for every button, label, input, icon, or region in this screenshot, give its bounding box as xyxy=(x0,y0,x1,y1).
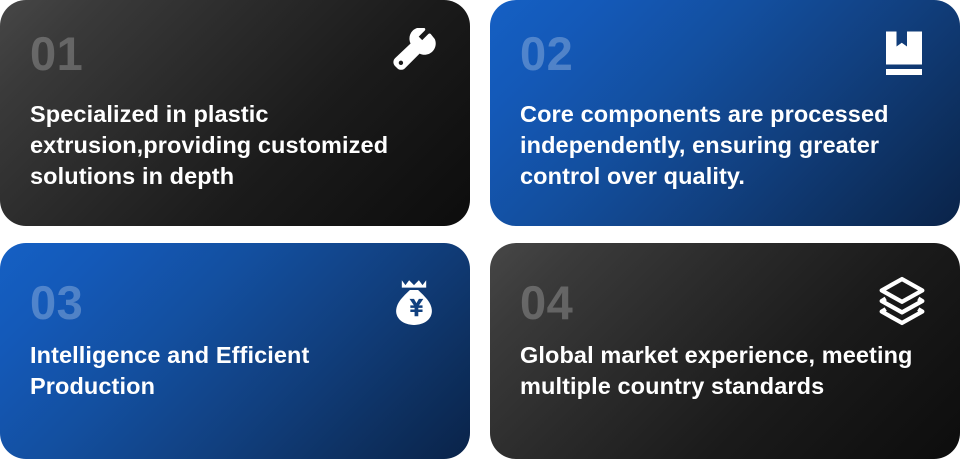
card-title: Intelligence and Efficient Production xyxy=(30,340,440,402)
feature-card-03[interactable]: 03 Intelligence and Efficient Production xyxy=(0,243,470,459)
card-number: 03 xyxy=(30,279,440,326)
card-number: 01 xyxy=(30,30,440,77)
feature-card-04[interactable]: 04 Global market experience, meeting mul… xyxy=(490,243,960,459)
card-number: 04 xyxy=(520,279,930,326)
feature-card-02[interactable]: 02 Core components are processed indepen… xyxy=(490,0,960,226)
card-number: 02 xyxy=(520,30,930,77)
feature-card-01[interactable]: 01 Specialized in plastic extrusion,prov… xyxy=(0,0,470,226)
card-title: Specialized in plastic extrusion,providi… xyxy=(30,99,440,192)
card-title: Global market experience, meeting multip… xyxy=(520,340,930,402)
card-title: Core components are processed independen… xyxy=(520,99,930,192)
feature-card-grid: 01 Specialized in plastic extrusion,prov… xyxy=(0,0,960,459)
